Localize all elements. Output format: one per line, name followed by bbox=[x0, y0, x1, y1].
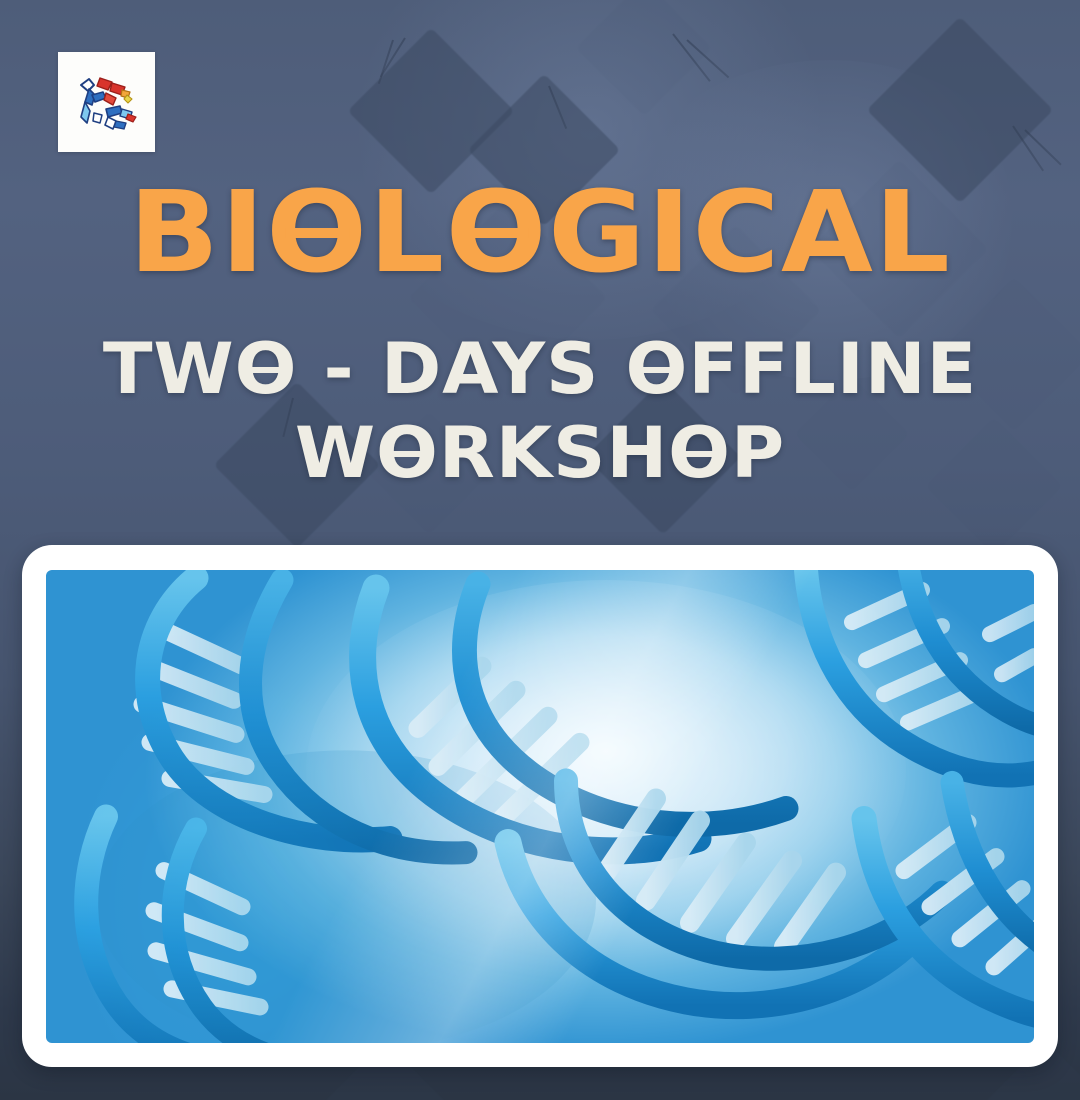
subtitle-l2-part-2: RKSH bbox=[439, 412, 668, 494]
workshop-poster: BIOLOGICAL TWO - DAYS OFFLINE WORKSHOP bbox=[0, 0, 1080, 1100]
photo-sheen-overlay bbox=[46, 570, 1034, 1043]
subtitle-l1-part-1: TW bbox=[103, 328, 235, 410]
protein-structure-logo bbox=[58, 52, 155, 152]
page-subtitle: TWO - DAYS OFFLINE WORKSHOP bbox=[0, 332, 1080, 491]
title-part-2: L bbox=[369, 168, 446, 298]
title-part-1: BI bbox=[129, 168, 267, 298]
subtitle-line-1: TWO - DAYS OFFLINE bbox=[103, 328, 977, 410]
subtitle-l1-part-2: - DAYS bbox=[297, 328, 625, 410]
dna-double-helix-photo bbox=[46, 570, 1034, 1043]
subtitle-l1-barred-o-1: O bbox=[235, 332, 298, 408]
graduation-cap-icon bbox=[372, 52, 490, 170]
subtitle-l1-part-3: FFLINE bbox=[688, 328, 977, 410]
title-barred-o-1: O bbox=[266, 176, 368, 290]
subtitle-l2-part-3: P bbox=[731, 412, 785, 494]
subtitle-l2-part-1: W bbox=[295, 412, 376, 494]
subtitle-l2-barred-o-2: O bbox=[668, 416, 731, 492]
graduation-cap-icon bbox=[596, 0, 692, 96]
graduation-cap-icon bbox=[330, 1064, 440, 1100]
poster-headings: BIOLOGICAL TWO - DAYS OFFLINE WORKSHOP bbox=[0, 176, 1080, 491]
title-part-3: GICAL bbox=[548, 168, 951, 298]
page-title: BIOLOGICAL bbox=[0, 176, 1080, 290]
dna-photo-frame bbox=[22, 545, 1058, 1067]
subtitle-l2-barred-o-1: O bbox=[376, 416, 439, 492]
graduation-cap-icon bbox=[894, 44, 1026, 176]
title-barred-o-2: O bbox=[446, 176, 548, 290]
subtitle-line-2: WORKSHOP bbox=[0, 416, 1080, 492]
subtitle-l1-barred-o-2: O bbox=[626, 332, 689, 408]
